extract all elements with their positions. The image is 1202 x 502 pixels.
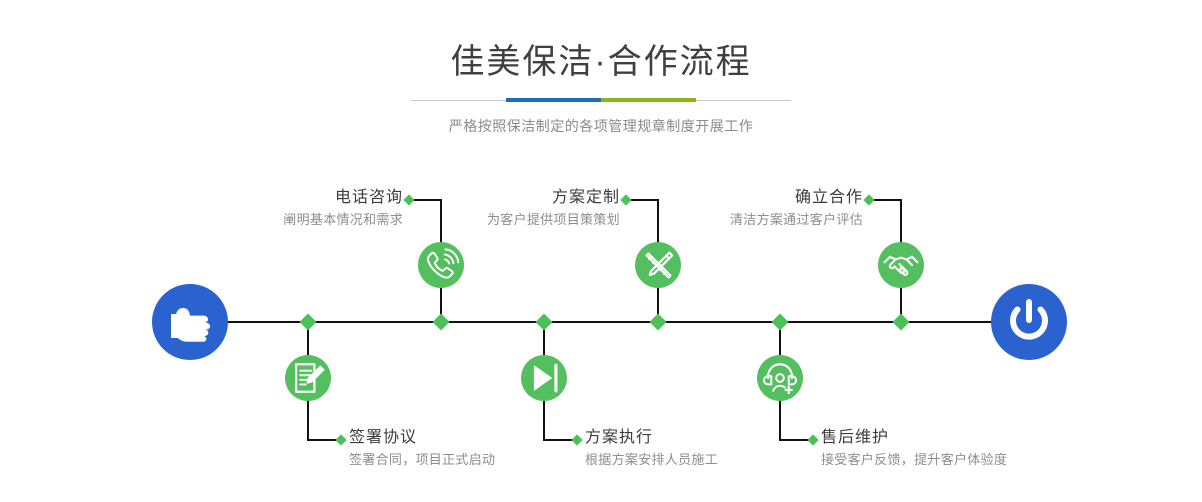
step-label-bottom-3: 售后维护 接受客户反馈，提升客户体验度	[821, 428, 1121, 469]
step-subtitle: 根据方案安排人员施工	[585, 451, 845, 469]
step-label-top-2: 方案定制 为客户提供项目策策划	[372, 188, 620, 229]
step-node-bottom-3[interactable]	[757, 355, 803, 401]
step-label-top-1: 电话咨询 阐明基本情况和需求	[155, 188, 403, 229]
connector-lines	[308, 200, 901, 440]
step-subtitle: 为客户提供项目策策划	[372, 211, 620, 229]
flow-chart-page: 佳美保洁·合作流程 严格按照保洁制定的各项管理规章制度开展工作	[0, 0, 1202, 502]
step-subtitle: 签署合同，项目正式启动	[349, 451, 609, 469]
step-label-bottom-2: 方案执行 根据方案安排人员施工	[585, 428, 845, 469]
step-title: 确立合作	[615, 188, 863, 208]
step-subtitle: 清洁方案通过客户评估	[615, 211, 863, 229]
step-node-bottom-2[interactable]	[521, 355, 567, 401]
step-title: 签署协议	[349, 428, 609, 448]
step-node-top-2[interactable]	[635, 242, 681, 288]
step-label-bottom-1: 签署协议 签署合同，项目正式启动	[349, 428, 609, 469]
step-node-top-1[interactable]	[418, 242, 464, 288]
step-label-top-3: 确立合作 清洁方案通过客户评估	[615, 188, 863, 229]
step-node-bottom-1[interactable]	[285, 355, 331, 401]
start-endpoint[interactable]	[152, 284, 228, 360]
step-title: 方案执行	[585, 428, 845, 448]
label-diamond-markers	[335, 194, 874, 445]
process-flow-diagram: 电话咨询 阐明基本情况和需求 方案定制 为客户提供项目策策划 确立合作 清洁方案…	[0, 0, 1202, 502]
step-subtitle: 接受客户反馈，提升客户体验度	[821, 451, 1121, 469]
step-title: 售后维护	[821, 428, 1121, 448]
step-subtitle: 阐明基本情况和需求	[155, 211, 403, 229]
step-title: 方案定制	[372, 188, 620, 208]
step-title: 电话咨询	[155, 188, 403, 208]
end-endpoint[interactable]	[991, 284, 1067, 360]
step-node-top-3[interactable]	[878, 242, 924, 288]
